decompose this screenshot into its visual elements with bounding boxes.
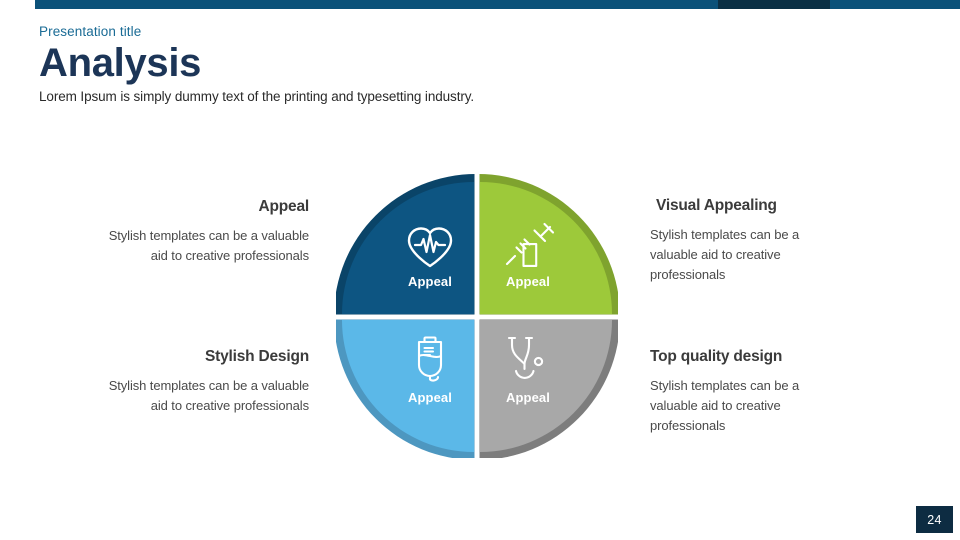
presentation-kicker: Presentation title — [39, 24, 739, 40]
callout-bottom-left-body: Stylish templates can be a valuable aid … — [97, 376, 309, 416]
stethoscope-icon — [500, 334, 556, 382]
callout-top-right-heading: Visual Appealing — [650, 197, 850, 216]
quadrant-label-bottom-left: Appeal — [382, 390, 478, 405]
callout-bottom-right-body: Stylish templates can be a valuable aid … — [650, 376, 850, 436]
callout-top-right-body: Stylish templates can be a valuable aid … — [650, 225, 850, 285]
quadrant-label-top-left: Appeal — [382, 274, 478, 289]
iv-bag-icon — [402, 334, 458, 382]
quadrant-label-top-right: Appeal — [480, 274, 576, 289]
top-bar-segment-right — [830, 0, 960, 9]
page-number-badge: 24 — [916, 506, 953, 533]
quadrant-circle-diagram: Appeal Appeal Appeal Appeal — [336, 174, 618, 458]
top-bar-segment-dark — [718, 0, 830, 9]
slide-subtitle: Lorem Ipsum is simply dummy text of the … — [39, 89, 739, 106]
callout-top-left-body: Stylish templates can be a valuable aid … — [97, 226, 309, 266]
top-bar-segment-left — [35, 0, 718, 9]
top-accent-bar — [0, 0, 960, 9]
quadrant-label-bottom-right: Appeal — [480, 390, 576, 405]
page-title: Analysis — [39, 42, 739, 85]
heart-pulse-icon — [402, 222, 458, 270]
callout-top-left-heading: Appeal — [97, 198, 309, 217]
slide-header: Presentation title Analysis Lorem Ipsum … — [39, 24, 739, 106]
callout-bottom-right-heading: Top quality design — [650, 348, 850, 367]
callout-top-left: Appeal Stylish templates can be a valuab… — [97, 198, 309, 266]
callout-bottom-left: Stylish Design Stylish templates can be … — [97, 348, 309, 416]
callout-top-right: Visual Appealing Stylish templates can b… — [650, 197, 850, 285]
callout-bottom-right: Top quality design Stylish templates can… — [650, 348, 850, 436]
callout-bottom-left-heading: Stylish Design — [97, 348, 309, 367]
syringe-icon — [500, 218, 556, 266]
